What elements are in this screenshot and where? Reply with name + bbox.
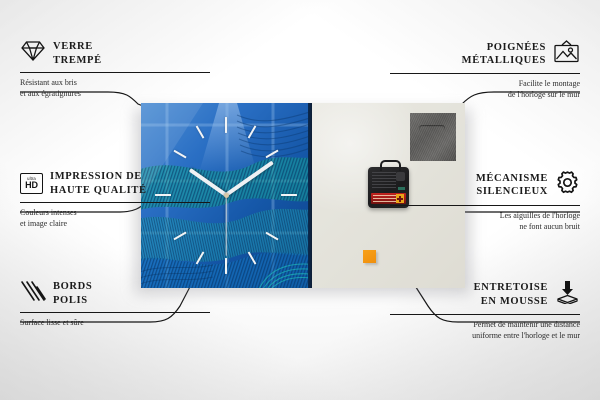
picture-frame-hanger-icon	[553, 40, 580, 68]
callout-mecanisme-silencieux: MÉCANISME SILENCIEUX Les aiguilles de l'…	[390, 170, 580, 232]
tick-4	[265, 232, 278, 241]
callout-subtitle-1: Permet de maintenir une distance	[390, 319, 580, 330]
gear-icon	[555, 170, 580, 200]
callout-title: MÉCANISME SILENCIEUX	[476, 172, 548, 199]
callout-title: POIGNÉES MÉTALLIQUES	[462, 41, 546, 68]
tick-7	[196, 251, 205, 264]
metal-hanger-plate	[410, 113, 456, 161]
tick-12	[225, 117, 227, 133]
callout-subtitle-2: de l'horloge sur le mur	[390, 89, 580, 100]
callout-divider	[390, 73, 580, 74]
callout-header: VERRE TREMPÉ	[20, 40, 210, 67]
callout-verre-trempe: VERRE TREMPÉ Résistant aux bris et aux é…	[20, 40, 210, 99]
callout-divider	[390, 314, 580, 315]
second-hand	[225, 194, 226, 256]
tick-8	[173, 232, 186, 241]
callout-header: POIGNÉES MÉTALLIQUES	[390, 40, 580, 68]
foam-spacer-pad	[363, 250, 376, 263]
callout-divider	[390, 205, 580, 206]
tick-2	[265, 150, 278, 159]
callout-entretoise-en-mousse: ENTRETOISE EN MOUSSE Permet de maintenir…	[390, 280, 580, 341]
callout-subtitle-1: Résistant aux bris	[20, 77, 210, 88]
callout-title: IMPRESSION DE HAUTE QUALITÉ	[50, 170, 147, 197]
tick-6	[225, 258, 227, 274]
infographic-canvas: VERRE TREMPÉ Résistant aux bris et aux é…	[0, 0, 600, 400]
callout-divider	[20, 202, 210, 203]
callout-subtitle-2: ne font aucun bruit	[390, 221, 580, 232]
callout-subtitle-2: et image claire	[20, 218, 210, 229]
callout-header: ultra HD IMPRESSION DE HAUTE QUALITÉ	[20, 170, 210, 197]
callout-subtitle-1: Surface lisse et sûre	[20, 317, 210, 328]
diamond-icon	[20, 40, 46, 67]
callout-poignees-metalliques: POIGNÉES MÉTALLIQUES Facilite le montage…	[390, 40, 580, 100]
callout-subtitle-1: Facilite le montage	[390, 78, 580, 89]
callout-subtitle-1: Couleurs intenses	[20, 207, 210, 218]
callout-subtitle-1: Les aiguilles de l'horloge	[390, 210, 580, 221]
callout-title: BORDS POLIS	[53, 280, 92, 307]
tick-3	[281, 194, 297, 196]
callout-header: BORDS POLIS	[20, 280, 210, 307]
callout-title: VERRE TREMPÉ	[53, 40, 102, 67]
callout-impression-haute-qualite: ultra HD IMPRESSION DE HAUTE QUALITÉ Cou…	[20, 170, 210, 229]
minute-hand	[225, 161, 274, 197]
callout-subtitle-2: uniforme entre l'horloge et le mur	[390, 330, 580, 341]
callout-title: ENTRETOISE EN MOUSSE	[474, 281, 548, 308]
ultra-hd-badge-icon: ultra HD	[20, 173, 43, 194]
callout-bords-polis: BORDS POLIS Surface lisse et sûre	[20, 280, 210, 328]
hanger-keyhole-slot	[419, 125, 445, 132]
tick-1	[248, 125, 257, 138]
foam-spacer-press-icon	[555, 280, 580, 309]
callout-subtitle-2: et aux égratignures	[20, 88, 210, 99]
callout-divider	[20, 72, 210, 73]
tick-10	[173, 150, 186, 159]
tick-11	[196, 125, 205, 138]
polished-edge-lines-icon	[20, 280, 46, 307]
tick-5	[248, 251, 257, 264]
callout-divider	[20, 312, 210, 313]
callout-header: MÉCANISME SILENCIEUX	[390, 170, 580, 200]
callout-header: ENTRETOISE EN MOUSSE	[390, 280, 580, 309]
clock-center-hub	[224, 193, 229, 198]
